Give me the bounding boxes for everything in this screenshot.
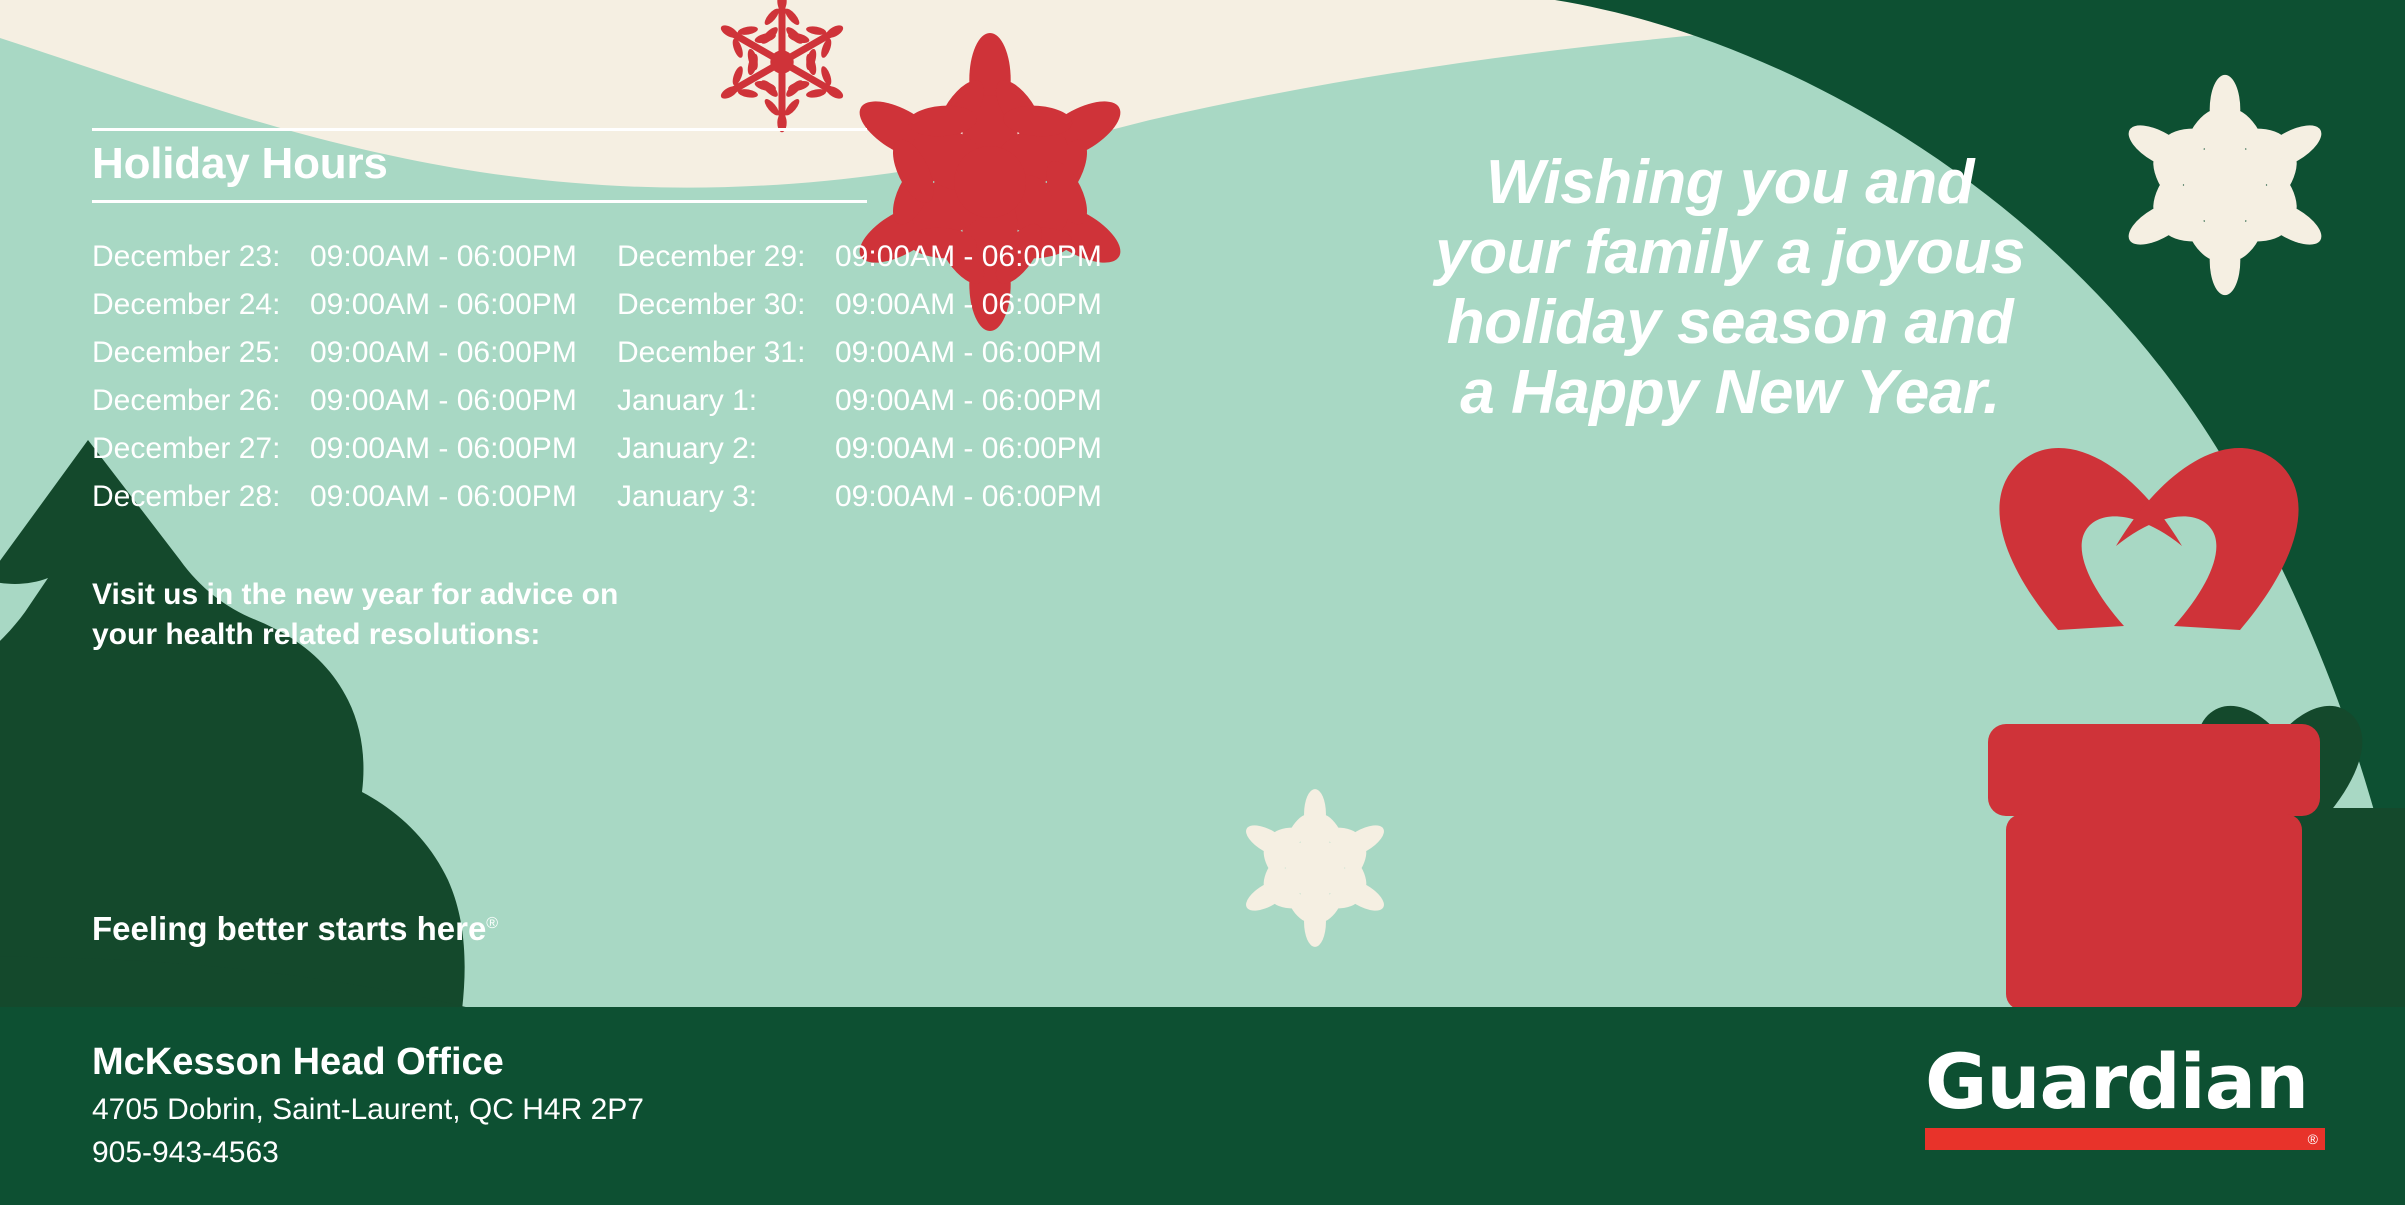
hours-time: 09:00AM - 06:00PM bbox=[310, 425, 577, 473]
hours-day: December 29: bbox=[617, 233, 835, 281]
guardian-wordmark: Guardian bbox=[1925, 1045, 2325, 1119]
hours-day: December 23: bbox=[92, 233, 310, 281]
office-phone: 905-943-4563 bbox=[92, 1132, 644, 1175]
logo-registered-trademark-symbol: ® bbox=[2308, 1132, 2318, 1146]
registered-trademark-symbol: ® bbox=[486, 915, 498, 932]
greeting-line: your family a joyous bbox=[1330, 218, 2130, 288]
hours-row: December 28: 09:00AM - 06:00PM bbox=[92, 473, 617, 521]
hours-row: December 30: 09:00AM - 06:00PM bbox=[617, 281, 1112, 329]
hours-row: December 26: 09:00AM - 06:00PM bbox=[92, 377, 617, 425]
hours-day: January 2: bbox=[617, 425, 835, 473]
greeting-line: a Happy New Year. bbox=[1330, 358, 2130, 428]
hours-row: January 1: 09:00AM - 06:00PM bbox=[617, 377, 1112, 425]
logo-red-underline: ® bbox=[1925, 1128, 2325, 1150]
hours-title: Holiday Hours bbox=[92, 131, 1112, 200]
promo-message: Visit us in the new year for advice on y… bbox=[92, 575, 792, 655]
hours-row: December 27: 09:00AM - 06:00PM bbox=[92, 425, 617, 473]
hours-time: 09:00AM - 06:00PM bbox=[835, 473, 1102, 521]
greeting-line: Wishing you and bbox=[1330, 148, 2130, 218]
hours-time: 09:00AM - 06:00PM bbox=[835, 233, 1102, 281]
holiday-greeting-card: Holiday Hours December 23: 09:00AM - 06:… bbox=[0, 0, 2405, 1205]
hours-row: December 25: 09:00AM - 06:00PM bbox=[92, 329, 617, 377]
hours-day: December 30: bbox=[617, 281, 835, 329]
hours-day: December 27: bbox=[92, 425, 310, 473]
hours-row: December 24: 09:00AM - 06:00PM bbox=[92, 281, 617, 329]
hours-time: 09:00AM - 06:00PM bbox=[310, 281, 577, 329]
hours-row: January 2: 09:00AM - 06:00PM bbox=[617, 425, 1112, 473]
hours-day: December 28: bbox=[92, 473, 310, 521]
hours-time: 09:00AM - 06:00PM bbox=[835, 377, 1102, 425]
hours-time: 09:00AM - 06:00PM bbox=[310, 329, 577, 377]
hours-time: 09:00AM - 06:00PM bbox=[835, 329, 1102, 377]
hours-day: January 1: bbox=[617, 377, 835, 425]
promo-line-2: your health related resolutions: bbox=[92, 615, 792, 655]
hours-day: December 25: bbox=[92, 329, 310, 377]
hours-row: December 23: 09:00AM - 06:00PM bbox=[92, 233, 617, 281]
hours-row: January 3: 09:00AM - 06:00PM bbox=[617, 473, 1112, 521]
office-name: McKesson Head Office bbox=[92, 1039, 644, 1085]
hours-day: December 26: bbox=[92, 377, 310, 425]
hours-row: December 31: 09:00AM - 06:00PM bbox=[617, 329, 1112, 377]
hours-day: December 24: bbox=[92, 281, 310, 329]
hours-column-left: December 23: 09:00AM - 06:00PM December … bbox=[92, 233, 617, 521]
greeting-message: Wishing you and your family a joyous hol… bbox=[1330, 148, 2130, 428]
footer-bar: McKesson Head Office 4705 Dobrin, Saint-… bbox=[0, 1007, 2405, 1205]
holiday-hours-panel: Holiday Hours December 23: 09:00AM - 06:… bbox=[92, 128, 1112, 521]
hours-day: January 3: bbox=[617, 473, 835, 521]
office-address: 4705 Dobrin, Saint-Laurent, QC H4R 2P7 bbox=[92, 1089, 644, 1132]
brand-tagline: Feeling better starts here® bbox=[92, 910, 498, 948]
hours-grid: December 23: 09:00AM - 06:00PM December … bbox=[92, 233, 1112, 521]
hours-day: December 31: bbox=[617, 329, 835, 377]
tagline-text: Feeling better starts here bbox=[92, 910, 486, 947]
hours-time: 09:00AM - 06:00PM bbox=[835, 425, 1102, 473]
greeting-line: holiday season and bbox=[1330, 288, 2130, 358]
hours-time: 09:00AM - 06:00PM bbox=[310, 473, 577, 521]
hours-column-right: December 29: 09:00AM - 06:00PM December … bbox=[617, 233, 1112, 521]
hours-time: 09:00AM - 06:00PM bbox=[310, 233, 577, 281]
guardian-logo: Guardian ® bbox=[1925, 1045, 2325, 1150]
hours-time: 09:00AM - 06:00PM bbox=[310, 377, 577, 425]
hours-row: December 29: 09:00AM - 06:00PM bbox=[617, 233, 1112, 281]
promo-line-1: Visit us in the new year for advice on bbox=[92, 575, 792, 615]
hours-rule-bottom bbox=[92, 200, 867, 203]
footer-address-block: McKesson Head Office 4705 Dobrin, Saint-… bbox=[92, 1039, 644, 1175]
hours-time: 09:00AM - 06:00PM bbox=[835, 281, 1102, 329]
